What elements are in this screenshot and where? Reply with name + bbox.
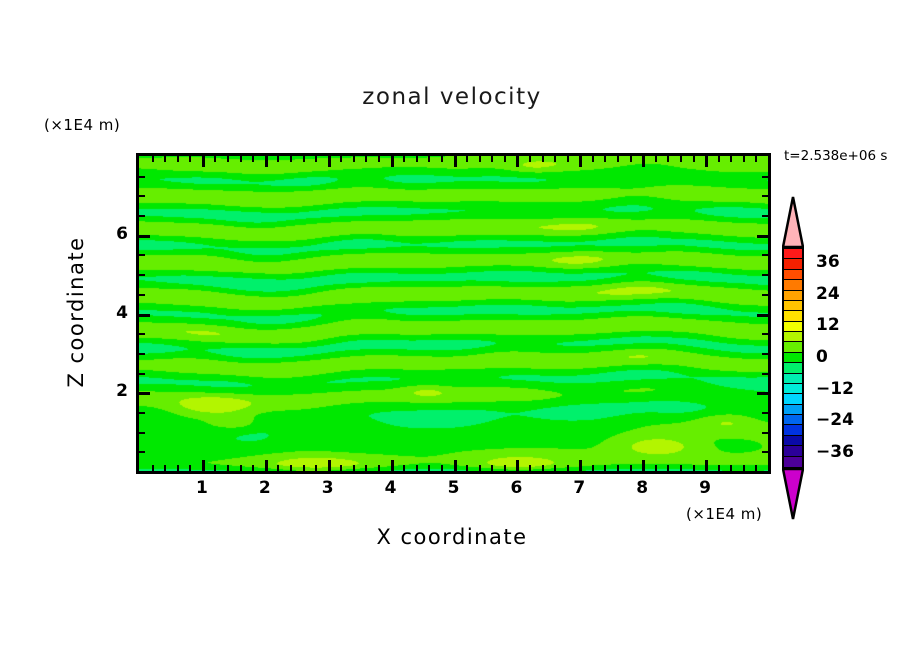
colorbar-band <box>784 415 802 425</box>
x-major-tick-bottom <box>328 460 331 471</box>
x-minor-tick-top <box>529 156 531 162</box>
y-minor-tick-left <box>139 294 145 296</box>
y-minor-tick-right <box>762 215 768 217</box>
x-minor-tick-bottom <box>214 465 216 471</box>
y-minor-tick-right <box>762 294 768 296</box>
colorbar-tick-label: −12 <box>816 379 854 399</box>
x-minor-tick-bottom <box>655 465 657 471</box>
colorbar-tick-label: 36 <box>816 252 840 272</box>
x-minor-tick-top <box>592 156 594 162</box>
y-major-tick-left <box>139 392 150 395</box>
x-minor-tick-bottom <box>353 465 355 471</box>
colorbar-under-arrow-icon <box>782 468 804 520</box>
x-minor-tick-bottom <box>164 465 166 471</box>
x-minor-tick-top <box>479 156 481 162</box>
y-minor-tick-left <box>139 432 145 434</box>
y-minor-tick-right <box>762 432 768 434</box>
x-minor-tick-bottom <box>189 465 191 471</box>
x-minor-tick-top <box>630 156 632 162</box>
x-tick-label: 7 <box>564 478 594 498</box>
x-major-tick-bottom <box>454 460 457 471</box>
x-minor-tick-bottom <box>227 465 229 471</box>
colorbar-band <box>784 301 802 311</box>
x-minor-tick-top <box>227 156 229 162</box>
x-minor-tick-top <box>554 156 556 162</box>
x-minor-tick-top <box>428 156 430 162</box>
y-major-tick-right <box>757 314 768 317</box>
y-major-tick-left <box>139 235 150 238</box>
colorbar: 3624120−12−24−36 <box>778 196 808 521</box>
x-minor-tick-bottom <box>755 465 757 471</box>
x-minor-tick-bottom <box>504 465 506 471</box>
x-minor-tick-bottom <box>567 465 569 471</box>
y-minor-tick-right <box>762 333 768 335</box>
y-minor-tick-right <box>762 176 768 178</box>
x-tick-label: 6 <box>501 478 531 498</box>
y-minor-tick-right <box>762 353 768 355</box>
x-minor-tick-bottom <box>529 465 531 471</box>
timestamp-annotation: t=2.538e+06 s <box>784 148 887 164</box>
x-minor-tick-bottom <box>428 465 430 471</box>
x-minor-tick-bottom <box>441 465 443 471</box>
y-minor-tick-left <box>139 333 145 335</box>
contour-field-canvas <box>139 156 768 471</box>
x-minor-tick-top <box>353 156 355 162</box>
y-major-tick-right <box>757 235 768 238</box>
x-major-tick-top <box>516 156 519 167</box>
colorbar-band <box>784 332 802 342</box>
x-major-tick-bottom <box>705 460 708 471</box>
y-major-tick-left <box>139 314 150 317</box>
y-minor-tick-right <box>762 195 768 197</box>
x-major-tick-top <box>642 156 645 167</box>
colorbar-over-arrow-icon <box>782 196 804 248</box>
x-minor-tick-top <box>743 156 745 162</box>
colorbar-band <box>784 446 802 456</box>
x-major-tick-bottom <box>202 460 205 471</box>
x-minor-tick-bottom <box>466 465 468 471</box>
x-minor-tick-top <box>617 156 619 162</box>
x-minor-tick-top <box>252 156 254 162</box>
x-minor-tick-top <box>604 156 606 162</box>
y-tick-label: 6 <box>100 224 128 244</box>
x-minor-tick-top <box>177 156 179 162</box>
x-minor-tick-bottom <box>743 465 745 471</box>
x-minor-tick-bottom <box>303 465 305 471</box>
x-major-tick-top <box>265 156 268 167</box>
x-minor-tick-bottom <box>542 465 544 471</box>
x-minor-tick-bottom <box>416 465 418 471</box>
colorbar-band <box>784 353 802 363</box>
colorbar-band <box>784 280 802 290</box>
x-major-tick-top <box>202 156 205 167</box>
x-minor-tick-top <box>340 156 342 162</box>
colorbar-band <box>784 249 802 259</box>
x-minor-tick-top <box>240 156 242 162</box>
colorbar-band <box>784 384 802 394</box>
x-minor-tick-bottom <box>152 465 154 471</box>
x-minor-tick-top <box>214 156 216 162</box>
y-minor-tick-left <box>139 274 145 276</box>
x-tick-label: 4 <box>376 478 406 498</box>
colorbar-tick-label: −24 <box>816 410 854 430</box>
x-major-tick-bottom <box>516 460 519 471</box>
y-minor-tick-left <box>139 412 145 414</box>
x-minor-tick-bottom <box>592 465 594 471</box>
y-minor-tick-left <box>139 215 145 217</box>
x-major-tick-bottom <box>642 460 645 471</box>
x-minor-tick-top <box>290 156 292 162</box>
plot-area <box>136 153 771 474</box>
x-tick-label: 1 <box>187 478 217 498</box>
contour-plot-figure: zonal velocity (×1E4 m) (×1E4 m) X coord… <box>0 0 904 654</box>
x-minor-tick-top <box>416 156 418 162</box>
y-minor-tick-right <box>762 451 768 453</box>
colorbar-band <box>784 425 802 435</box>
x-minor-tick-bottom <box>365 465 367 471</box>
y-minor-tick-right <box>762 412 768 414</box>
x-minor-tick-bottom <box>315 465 317 471</box>
x-minor-tick-bottom <box>680 465 682 471</box>
x-minor-tick-bottom <box>378 465 380 471</box>
colorbar-band <box>784 342 802 352</box>
x-major-tick-bottom <box>579 460 582 471</box>
colorbar-tick-label: 24 <box>816 284 840 304</box>
x-minor-tick-bottom <box>277 465 279 471</box>
y-tick-label: 4 <box>100 303 128 323</box>
x-tick-label: 8 <box>627 478 657 498</box>
x-minor-tick-top <box>667 156 669 162</box>
y-minor-tick-right <box>762 254 768 256</box>
y-minor-tick-left <box>139 353 145 355</box>
colorbar-band <box>784 270 802 280</box>
x-minor-tick-bottom <box>240 465 242 471</box>
x-minor-tick-top <box>378 156 380 162</box>
y-minor-tick-left <box>139 451 145 453</box>
x-minor-tick-top <box>303 156 305 162</box>
y-minor-tick-right <box>762 373 768 375</box>
x-major-tick-top <box>579 156 582 167</box>
x-major-tick-top <box>454 156 457 167</box>
x-axis-unit-label: (×1E4 m) <box>686 505 762 523</box>
x-minor-tick-top <box>655 156 657 162</box>
y-minor-tick-left <box>139 176 145 178</box>
y-minor-tick-left <box>139 373 145 375</box>
colorbar-bands <box>782 247 804 469</box>
x-minor-tick-top <box>730 156 732 162</box>
colorbar-band <box>784 259 802 269</box>
page-title: zonal velocity <box>0 84 904 110</box>
x-tick-label: 3 <box>313 478 343 498</box>
x-minor-tick-bottom <box>604 465 606 471</box>
colorbar-band <box>784 322 802 332</box>
x-minor-tick-bottom <box>491 465 493 471</box>
x-minor-tick-top <box>403 156 405 162</box>
x-minor-tick-top <box>152 156 154 162</box>
x-minor-tick-top <box>365 156 367 162</box>
x-minor-tick-bottom <box>730 465 732 471</box>
x-minor-tick-bottom <box>630 465 632 471</box>
x-minor-tick-bottom <box>718 465 720 471</box>
x-minor-tick-top <box>164 156 166 162</box>
colorbar-band <box>784 394 802 404</box>
x-minor-tick-bottom <box>340 465 342 471</box>
x-minor-tick-top <box>441 156 443 162</box>
colorbar-band <box>784 436 802 446</box>
x-tick-label: 2 <box>250 478 280 498</box>
colorbar-band <box>784 363 802 373</box>
colorbar-tick-label: −36 <box>816 442 854 462</box>
y-axis-unit-label: (×1E4 m) <box>44 116 120 134</box>
x-minor-tick-top <box>693 156 695 162</box>
colorbar-tick-label: 0 <box>816 347 828 367</box>
y-minor-tick-left <box>139 195 145 197</box>
x-major-tick-top <box>705 156 708 167</box>
x-minor-tick-bottom <box>403 465 405 471</box>
colorbar-band <box>784 291 802 301</box>
x-minor-tick-bottom <box>667 465 669 471</box>
x-minor-tick-top <box>718 156 720 162</box>
x-minor-tick-bottom <box>554 465 556 471</box>
colorbar-band <box>784 405 802 415</box>
x-minor-tick-top <box>542 156 544 162</box>
x-major-tick-bottom <box>391 460 394 471</box>
x-minor-tick-top <box>189 156 191 162</box>
x-minor-tick-top <box>680 156 682 162</box>
x-minor-tick-top <box>277 156 279 162</box>
colorbar-band <box>784 457 802 467</box>
y-axis-title: Z coordinate <box>64 212 88 412</box>
colorbar-band <box>784 311 802 321</box>
y-major-tick-right <box>757 392 768 395</box>
x-axis-title: X coordinate <box>0 525 904 549</box>
x-minor-tick-top <box>755 156 757 162</box>
x-minor-tick-bottom <box>693 465 695 471</box>
x-minor-tick-bottom <box>177 465 179 471</box>
x-minor-tick-top <box>315 156 317 162</box>
x-minor-tick-bottom <box>290 465 292 471</box>
y-minor-tick-left <box>139 254 145 256</box>
x-tick-label: 9 <box>690 478 720 498</box>
x-major-tick-top <box>391 156 394 167</box>
y-minor-tick-right <box>762 274 768 276</box>
x-major-tick-top <box>328 156 331 167</box>
colorbar-band <box>784 374 802 384</box>
x-minor-tick-top <box>466 156 468 162</box>
x-major-tick-bottom <box>265 460 268 471</box>
x-tick-label: 5 <box>439 478 469 498</box>
x-minor-tick-bottom <box>252 465 254 471</box>
x-minor-tick-bottom <box>479 465 481 471</box>
colorbar-tick-label: 12 <box>816 315 840 335</box>
y-tick-label: 2 <box>100 381 128 401</box>
x-minor-tick-top <box>504 156 506 162</box>
x-minor-tick-top <box>491 156 493 162</box>
x-minor-tick-bottom <box>617 465 619 471</box>
x-minor-tick-top <box>567 156 569 162</box>
